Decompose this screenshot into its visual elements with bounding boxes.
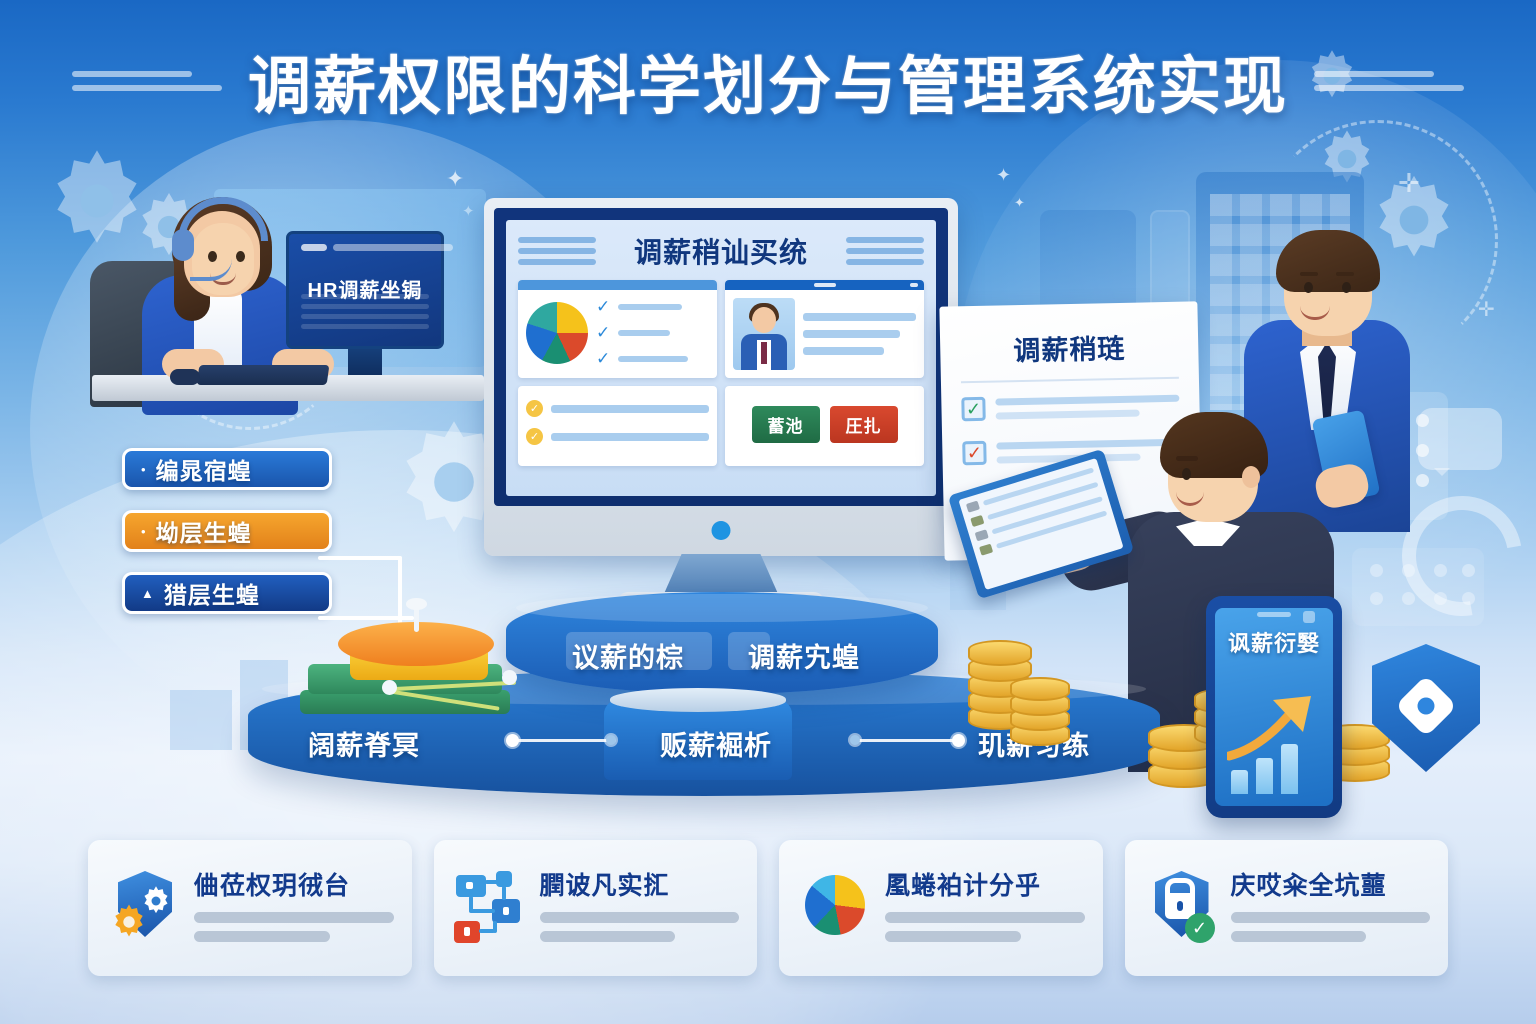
pie-chart-icon (797, 869, 871, 947)
tablet-thumb (970, 515, 984, 527)
check-icon: ✓ (596, 324, 610, 341)
coin (968, 640, 1032, 666)
keyboard (197, 365, 330, 385)
chip-marker-icon: • (141, 525, 146, 538)
check-row: ✓ (596, 324, 688, 341)
header-decor-left (518, 237, 596, 265)
dais-connector-dot (606, 735, 616, 745)
avatar (733, 298, 795, 370)
reject-button[interactable]: 圧扎 (830, 406, 898, 443)
layered-permission-stack (296, 614, 526, 736)
stack-needle-cap (406, 598, 427, 610)
flow-link (493, 921, 497, 933)
checklist: ✓ ✓ ✓ (596, 298, 688, 367)
verified-check-icon: ✓ (1185, 913, 1215, 943)
businessman-eye (1342, 282, 1351, 293)
flow-link (502, 886, 506, 900)
monitor-toolbar-dot (301, 244, 327, 251)
panel-action-dot (910, 283, 918, 287)
text-placeholder (194, 912, 394, 923)
coin-stack (1010, 674, 1076, 746)
phone-screen: 讽薪衍嫛 (1215, 608, 1333, 806)
card-text: 膶诐凡实㧟 (540, 866, 740, 950)
mobile-app-phone[interactable]: 讽薪衍嫛 (1206, 596, 1342, 818)
chip-connector-line (318, 556, 402, 560)
checkbox-approved[interactable]: ✓ (961, 397, 985, 421)
check-row: ✓ (526, 428, 709, 445)
lock-shield-icon: ✓ (1143, 869, 1217, 947)
system-monitor: 调薪稍讪买统 ✓ (484, 198, 958, 556)
card-text: 㑋莅权玥㣝台 (194, 866, 394, 950)
check-icon: ✓ (596, 298, 610, 315)
businessman-seated-eye (1182, 468, 1191, 480)
businessman-brow (1300, 272, 1318, 276)
dais-label-bottom-2: 贩薪䘿析 (660, 724, 772, 763)
panel-body: ✓ ✓ (518, 386, 717, 466)
phone-bar-chart (1231, 744, 1298, 794)
check-row: ✓ (526, 400, 709, 417)
monitor-power-indicator (712, 521, 731, 540)
text-placeholder (194, 931, 330, 942)
tablet-thumb (966, 501, 980, 513)
dais-connector-line (856, 739, 960, 742)
hr-agent-scene: HR调薪坐锔 (86, 175, 486, 435)
businessman-eye (1304, 282, 1313, 293)
check-row: ✓ (596, 350, 688, 367)
flow-node-dot (464, 927, 470, 936)
text-placeholder (885, 912, 1085, 923)
dais-connector-dot (952, 734, 965, 747)
feature-card-2[interactable]: 膶诐凡实㧟 (434, 840, 758, 976)
text-placeholder (1231, 931, 1367, 942)
panel-actions[interactable]: 蓄池 圧扎 (725, 386, 924, 466)
title-bar: 调薪权限的科学划分与管理系统实现 (0, 26, 1536, 136)
flow-node-dot (503, 907, 509, 915)
dais-connector-dot (850, 735, 860, 745)
tablet-thumb (979, 544, 993, 556)
header-decor-right (846, 237, 924, 265)
text-placeholder (618, 356, 688, 362)
page-title: 调薪权限的科学划分与管理系统实现 (248, 36, 1288, 127)
card-text: 㓘蜷袙计分乎 (885, 866, 1085, 950)
plus-decor: ✛ (1478, 300, 1495, 320)
avatar-tie (761, 342, 767, 364)
card-title: 㓘蜷袙计分乎 (885, 866, 1085, 902)
panel-header (518, 280, 717, 290)
system-title: 调薪稍讪买统 (606, 231, 836, 271)
panel-employee[interactable] (725, 280, 924, 378)
tablet-thumb (975, 529, 989, 541)
document-row: ✓ (941, 378, 1200, 427)
pie-shape (805, 875, 865, 935)
title-decor-left (72, 71, 222, 91)
dais-label-top-2: 调薪宄蝗 (748, 636, 860, 675)
phone-notch (1257, 612, 1291, 617)
text-placeholder (540, 912, 740, 923)
chip-label: 编晁宿蝗 (156, 452, 252, 486)
text-placeholder (551, 433, 709, 441)
approve-button[interactable]: 蓄池 (752, 406, 820, 443)
document-title: 调薪稍琏 (940, 325, 1199, 369)
feature-card-4[interactable]: ✓ 庆哎籴全坑蘁 (1125, 840, 1449, 976)
check-icon: ✓ (596, 350, 610, 367)
panel-handle (814, 283, 836, 287)
panel-body: ✓ ✓ ✓ (518, 290, 717, 375)
text-placeholder (803, 313, 916, 321)
flowchart-icon (452, 869, 526, 947)
coin (1010, 677, 1070, 701)
monitor-screen: 调薪稍讪买统 ✓ (494, 208, 948, 506)
check-circle-icon: ✓ (526, 400, 543, 417)
flow-link (485, 880, 498, 884)
headset-earcup (172, 229, 194, 261)
monitor-rows (301, 294, 429, 334)
flow-node (496, 871, 512, 887)
panel-analytics[interactable]: ✓ ✓ ✓ (518, 280, 717, 378)
check-circle-icon: ✓ (526, 428, 543, 445)
chip-level-1[interactable]: • 编晁宿蝗 (122, 448, 332, 490)
hr-agent-eye (236, 251, 245, 262)
flow-link (469, 909, 495, 913)
phone-camera (1303, 611, 1315, 623)
sparkle-decor: ✦ (1014, 196, 1025, 209)
card-title: 庆哎籴全坑蘁 (1231, 866, 1431, 902)
employee-fields (803, 313, 916, 355)
feature-card-3[interactable]: 㓘蜷袙计分乎 (779, 840, 1103, 976)
action-buttons: 蓄池 圧扎 (725, 386, 924, 453)
system-ui: 调薪稍讪买统 ✓ (506, 220, 936, 496)
text-placeholder (618, 330, 670, 336)
text-placeholder (1231, 912, 1431, 923)
panel-header (725, 280, 924, 290)
card-text: 庆哎籴全坑蘁 (1231, 866, 1431, 950)
system-header: 调薪稍讪买统 (518, 230, 924, 272)
pie-chart-icon (526, 302, 588, 364)
text-placeholder (540, 931, 676, 942)
phone-app-title: 讽薪衍嫛 (1215, 626, 1333, 658)
monitor-neck (663, 554, 779, 596)
sparkle-decor: ✦ (996, 166, 1011, 184)
document-text (995, 393, 1180, 427)
text-placeholder (803, 330, 900, 338)
text-placeholder (618, 304, 682, 310)
dais-label-top-1: 议薪的棕 (572, 636, 684, 675)
security-shield-badge (1372, 644, 1480, 772)
mouse (170, 369, 200, 385)
businessman-standing-hair (1276, 230, 1380, 292)
plus-decor: ✛ (1398, 170, 1420, 196)
hr-monitor: HR调薪坐锔 (286, 231, 444, 349)
shield-gear-icon (106, 869, 180, 947)
monitor-toolbar-bar (333, 244, 453, 251)
card-title: 膶诐凡实㧟 (540, 866, 740, 902)
card-title: 㑋莅权玥㣝台 (194, 866, 394, 902)
panel-body (725, 290, 924, 378)
businessman-seated-brow (1176, 456, 1198, 461)
checkbox-rejected[interactable]: ✓ (962, 441, 986, 465)
text-placeholder (551, 405, 709, 413)
businessman-seated-ear (1242, 466, 1260, 488)
panel-approval-list[interactable]: ✓ ✓ (518, 386, 717, 466)
avatar-head (752, 307, 776, 333)
feature-cards: 㑋莅权玥㣝台 膶诐凡实㧟 (88, 840, 1448, 976)
businessman-brow (1336, 272, 1354, 276)
feature-card-1[interactable]: 㑋莅权玥㣝台 (88, 840, 412, 976)
dais-connector-line (512, 739, 616, 742)
gear-icon (110, 903, 148, 946)
infographic-canvas: ✛ ✛ ✦ ✦ ✦ ✦ 调薪权限的科学划分与管理系统实现 HR调薪坐锔 (0, 0, 1536, 1024)
chip-marker-icon: • (141, 463, 146, 476)
system-panels: ✓ ✓ ✓ (518, 280, 924, 466)
stack-wire-node (382, 680, 397, 695)
stack-wire-node (502, 670, 517, 685)
text-placeholder (885, 931, 1021, 942)
text-placeholder (803, 347, 884, 355)
title-decor-right (1314, 71, 1464, 91)
chip-label: 坳层生蝗 (156, 514, 252, 548)
chat-bubble-icon (1418, 408, 1502, 470)
flow-node-dot (466, 882, 473, 889)
check-row: ✓ (596, 298, 688, 315)
chip-level-2[interactable]: • 坳层生蝗 (122, 510, 332, 552)
